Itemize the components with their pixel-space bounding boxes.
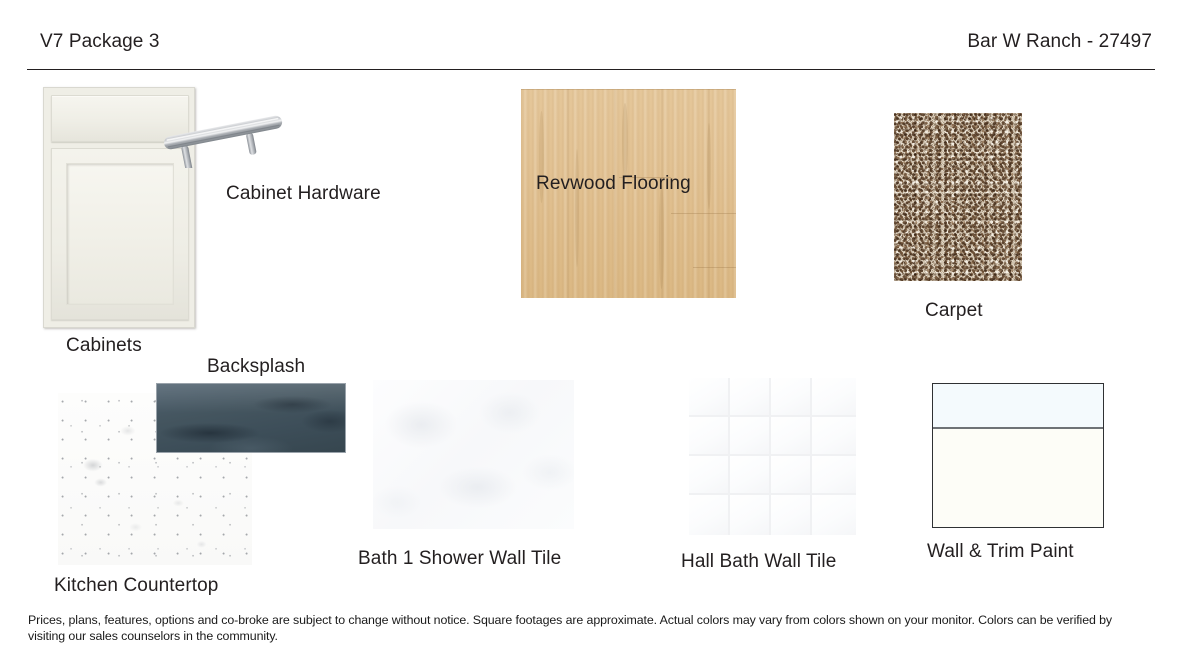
swatch-label-backsplash: Backsplash [207, 356, 305, 378]
swatch-wall-trim-paint[interactable] [932, 383, 1104, 528]
swatch-label-cabinets: Cabinets [66, 335, 142, 357]
swatch-label-wall-trim-paint: Wall & Trim Paint [927, 541, 1074, 563]
header-divider [27, 69, 1155, 70]
page-header: V7 Package 3 Bar W Ranch - 27497 [0, 0, 1182, 72]
swatch-hall-bath-wall-tile[interactable] [689, 378, 856, 535]
swatch-label-revwood-flooring: Revwood Flooring [536, 173, 691, 195]
swatch-label-bath-1-shower-wall-tile: Bath 1 Shower Wall Tile [358, 548, 561, 570]
legal-disclaimer: Prices, plans, features, options and co-… [28, 613, 1148, 644]
carpet-texture-overlay [894, 113, 1022, 281]
swatch-label-cabinet-hardware: Cabinet Hardware [226, 183, 381, 205]
swatch-cabinets[interactable] [43, 87, 195, 328]
paint-band-trim-color [933, 429, 1103, 527]
backsplash-gloss-highlight [157, 384, 345, 413]
cabinet-door-panel [51, 148, 189, 320]
swatch-label-carpet: Carpet [925, 300, 983, 322]
swatch-label-kitchen-countertop: Kitchen Countertop [54, 575, 218, 597]
community-title: Bar W Ranch - 27497 [967, 31, 1152, 53]
cabinet-door-inset [66, 163, 174, 305]
swatch-carpet[interactable] [894, 113, 1022, 281]
swatch-label-hall-bath-wall-tile: Hall Bath Wall Tile [681, 551, 836, 573]
page-title: V7 Package 3 [40, 31, 160, 53]
swatch-bath-1-shower-wall-tile[interactable] [373, 380, 574, 529]
cabinet-drawer-front [51, 95, 189, 142]
swatch-backsplash[interactable] [156, 383, 346, 453]
paint-band-wall-color [933, 384, 1103, 429]
